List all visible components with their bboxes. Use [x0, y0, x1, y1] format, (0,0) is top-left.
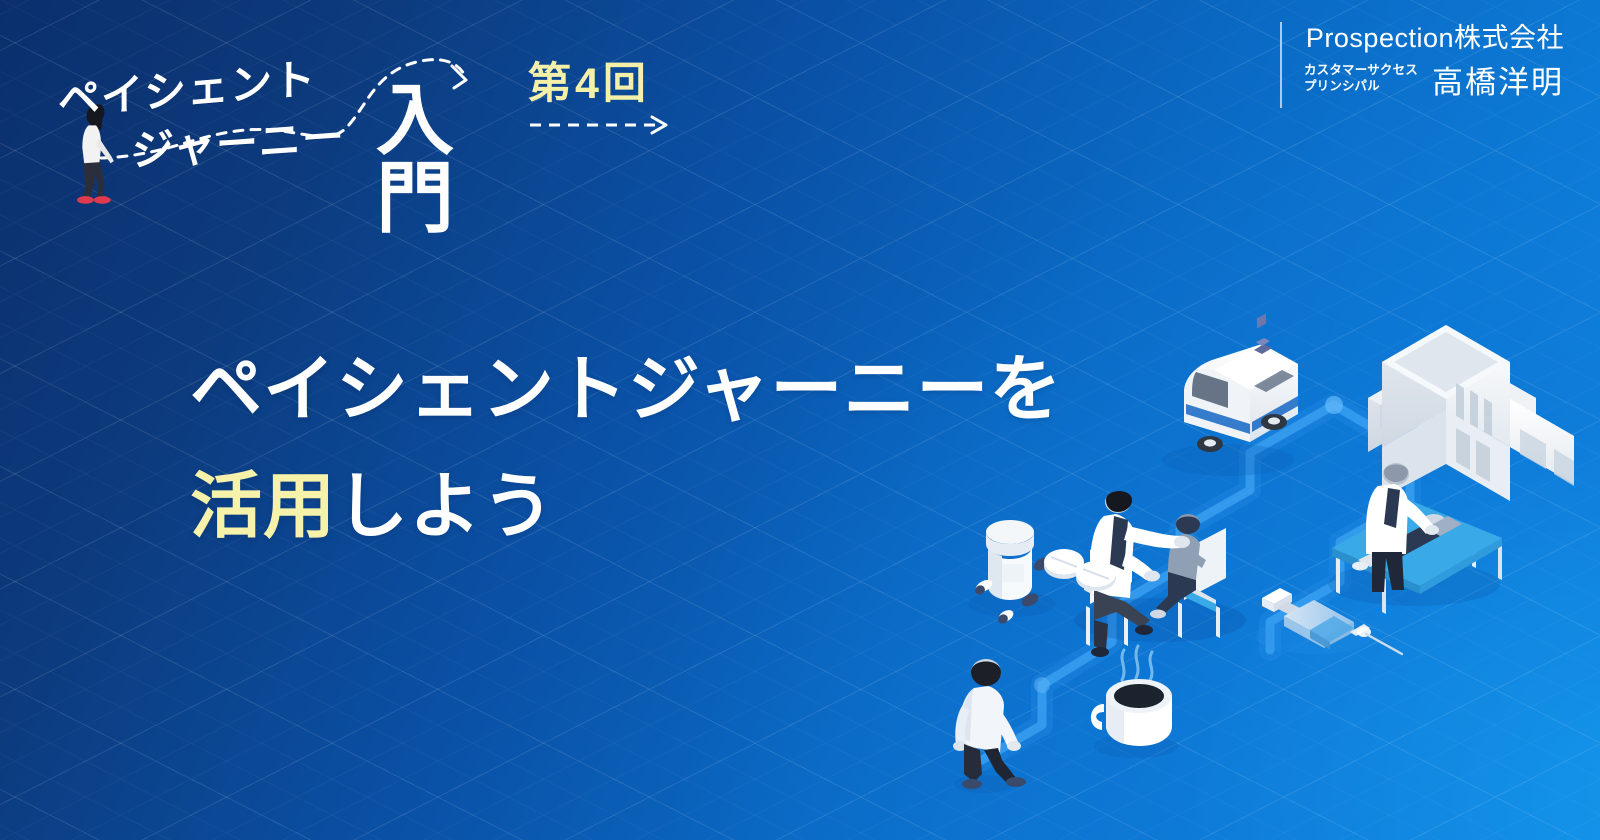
- brand-role-line1: カスタマーサクセス: [1304, 62, 1418, 78]
- headline-rest: しよう: [336, 467, 555, 547]
- series-logo: ペイシェント ジャーニー 入門: [46, 38, 516, 188]
- dashed-arrow-right-icon: [528, 113, 678, 137]
- medicine-bottle: [986, 520, 1034, 600]
- episode-badge: 第4回: [528, 62, 688, 137]
- patient-journey-illustration: [930, 290, 1600, 840]
- coffee-cup: [1091, 646, 1178, 758]
- brand-company: Prospection株式会社: [1304, 22, 1564, 56]
- ambulance: [1162, 314, 1298, 476]
- brand-author-row: カスタマーサクセス プリンシパル 高橋洋明: [1304, 62, 1564, 98]
- path-node-dot: [1325, 396, 1343, 414]
- path-node-dot: [1034, 677, 1050, 693]
- episode-label: 第4回: [528, 62, 688, 107]
- brand-name: 高橋洋明: [1432, 67, 1564, 98]
- headline-accent: 活用: [190, 467, 336, 547]
- steam-icon: [1122, 646, 1152, 680]
- illustration-svg: [930, 290, 1600, 840]
- brand-role-line2: プリンシパル: [1304, 78, 1418, 94]
- walking-person: [953, 659, 1026, 793]
- brand-role: カスタマーサクセス プリンシパル: [1304, 62, 1418, 98]
- brand-block: Prospection株式会社 カスタマーサクセス プリンシパル 高橋洋明: [1280, 22, 1564, 108]
- slide-root: ペイシェント ジャーニー 入門 第4回 Prospection株式会社 カスタマ…: [0, 0, 1600, 840]
- logo-suffix: 入門: [376, 82, 516, 238]
